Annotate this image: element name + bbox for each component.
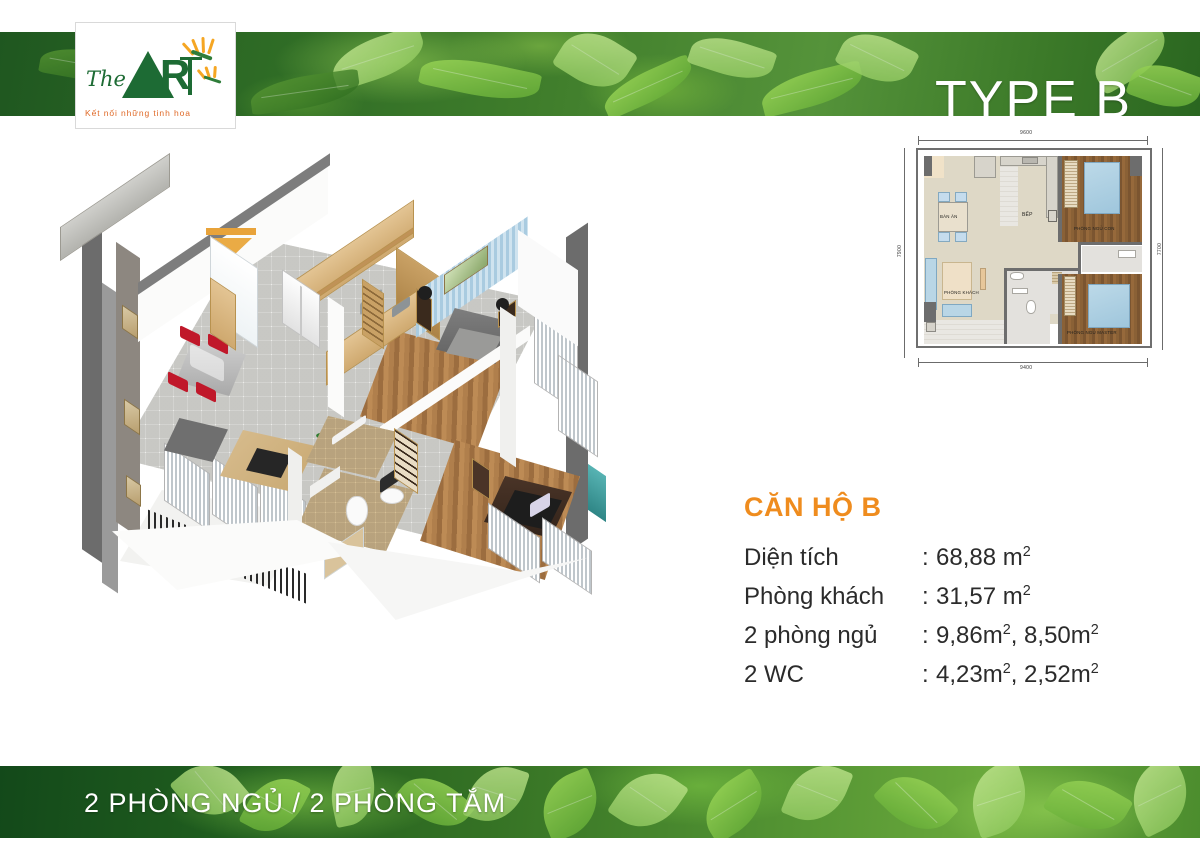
spec-value-main: 68,88 m	[936, 544, 1023, 571]
spec-value: 68,88 m2	[936, 539, 1174, 578]
plan-wall	[1004, 268, 1078, 271]
plan-chair	[938, 192, 950, 202]
leaf-decoration	[780, 766, 853, 832]
logo-stroke	[180, 57, 202, 60]
leaf-decoration	[692, 768, 775, 838]
leaf-decoration	[248, 69, 361, 116]
plan-label-bedroom-kid: PHÒNG NGỦ CON	[1074, 226, 1115, 231]
spec-row: 2 phòng ngủ : 9,86m2, 8,50m2	[744, 617, 1174, 656]
spec-value-second: , 2,52m	[1011, 661, 1091, 688]
leaf-decoration	[1043, 766, 1134, 838]
spec-separator: :	[922, 656, 936, 695]
spec-unit-exp: 2	[1003, 661, 1011, 677]
leaf-decoration	[418, 50, 542, 108]
accent-door	[588, 464, 606, 522]
plan-wall	[1058, 274, 1062, 344]
fridge-divider	[300, 285, 302, 336]
spec-separator: :	[922, 578, 936, 617]
leaf-decoration	[873, 766, 960, 838]
spec-unit-exp: 2	[1003, 622, 1011, 638]
brand-tagline: Kết nối những tinh hoa	[85, 108, 191, 118]
spec-separator: :	[922, 539, 936, 578]
plan-balcony	[924, 320, 1008, 344]
spec-label: Phòng khách	[744, 578, 922, 617]
leaf-decoration	[961, 766, 1037, 838]
dimension-tick	[1147, 358, 1148, 367]
plan-sink	[1022, 157, 1038, 164]
plan-toilet	[1026, 300, 1036, 314]
spec-value-main: 4,23m	[936, 661, 1003, 688]
plan-wardrobe	[1064, 276, 1076, 316]
dimension-tick	[918, 136, 919, 145]
plan-bed-kid	[1084, 162, 1120, 214]
logo-script-text: The	[86, 67, 126, 91]
plan-balcony-unit	[926, 322, 936, 332]
spec-row: Phòng khách : 31,57 m2	[744, 578, 1174, 617]
plan-label-dining: BÀN ĂN	[940, 214, 958, 219]
kitchen-countertop	[60, 153, 170, 261]
footer-title: 2 PHÒNG NGỦ / 2 PHÒNG TẮM	[84, 788, 506, 819]
spec-value-second: , 8,50m	[1011, 622, 1091, 649]
logo-stroke	[188, 57, 192, 95]
floorplan-outline: BÀN ĂN BẾP PHÒNG KHÁCH PHÒNG NGỦ CON PHÒ…	[916, 148, 1152, 348]
leaf-decoration	[607, 766, 689, 838]
plan-sofa	[942, 304, 972, 317]
right-window-panel	[558, 355, 598, 458]
plan-chair	[955, 192, 967, 202]
plan-cabinet	[974, 156, 996, 178]
spec-separator: :	[922, 617, 936, 656]
plan-wall	[1078, 242, 1142, 245]
spec-value-main: 31,57 m	[936, 583, 1023, 610]
dimension-bottom: 9400	[1020, 365, 1032, 371]
spec-label: 2 WC	[744, 656, 922, 695]
spec-row: 2 WC : 4,23m2, 2,52m2	[744, 656, 1174, 695]
spec-unit-exp2: 2	[1091, 622, 1099, 638]
dimension-tick	[1147, 136, 1148, 145]
spec-label: 2 phòng ngủ	[744, 617, 922, 656]
brand-logo: The R Kết nối những tinh hoa	[75, 22, 236, 129]
spec-value: 9,86m2, 8,50m2	[936, 617, 1174, 656]
partition-wall	[500, 307, 516, 468]
footer-band: 2 PHÒNG NGỦ / 2 PHÒNG TẮM	[0, 766, 1200, 838]
plan-wall-column	[1130, 156, 1142, 176]
spec-value: 31,57 m2	[936, 578, 1174, 617]
plan-kitchen-counter	[1046, 156, 1058, 218]
spec-row: Diện tích : 68,88 m2	[744, 539, 1174, 578]
plan-label-living: PHÒNG KHÁCH	[944, 290, 979, 295]
spec-value-main: 9,86m	[936, 622, 1003, 649]
dimension-tick	[918, 358, 919, 367]
leaf-decoration	[686, 32, 777, 88]
specs-heading: CĂN HỘ B	[744, 492, 1174, 523]
dimension-line-left	[904, 148, 905, 358]
plan-cooktop	[1048, 210, 1057, 222]
plan-label-bedroom-master: PHÒNG NGỦ MASTER	[1067, 330, 1117, 335]
plan-wardrobe	[1064, 160, 1078, 208]
spec-label: Diện tích	[744, 539, 922, 578]
plan-chair	[955, 232, 967, 242]
floorplan-2d: 9600 9400 7900 7700	[896, 126, 1176, 376]
plan-wall	[1078, 242, 1081, 274]
dimension-top: 9600	[1020, 130, 1032, 136]
pendant-lamp	[418, 286, 432, 300]
plan-vanity	[1012, 288, 1028, 294]
spec-unit-exp2: 2	[1091, 661, 1099, 677]
spec-value: 4,23m2, 2,52m2	[936, 656, 1174, 695]
spec-unit-exp: 2	[1023, 544, 1031, 560]
plan-chair	[938, 232, 950, 242]
dimension-line-top	[918, 140, 1148, 141]
plan-bed-master	[1088, 284, 1130, 328]
plan-wall	[1058, 156, 1062, 242]
page-title: TYPE B	[935, 70, 1132, 116]
toilet-fixture	[346, 496, 368, 526]
dimension-left: 7900	[897, 245, 903, 257]
exterior-wall-left	[82, 219, 102, 562]
apartment-specs: CĂN HỘ B Diện tích : 68,88 m2 Phòng khác…	[744, 492, 1174, 695]
plan-tv-unit	[980, 268, 986, 290]
brochure-page: TYPE B The R Kết nối những tin	[0, 0, 1200, 848]
partition-wall	[328, 297, 344, 418]
plan-bathtub	[1118, 250, 1136, 258]
apartment-3d-render	[60, 190, 710, 650]
plan-wall-column	[924, 156, 932, 176]
plan-kitchen-tile	[1000, 156, 1018, 226]
spec-unit-exp: 2	[1023, 583, 1031, 599]
plan-label-kitchen: BẾP	[1022, 212, 1033, 218]
plan-sink-fixture	[1010, 272, 1024, 280]
dimension-right: 7700	[1157, 243, 1163, 255]
plan-wall-column	[924, 302, 936, 322]
leaf-decoration	[531, 767, 608, 838]
dimension-line-bottom	[918, 362, 1148, 363]
plan-wall	[1004, 268, 1007, 344]
